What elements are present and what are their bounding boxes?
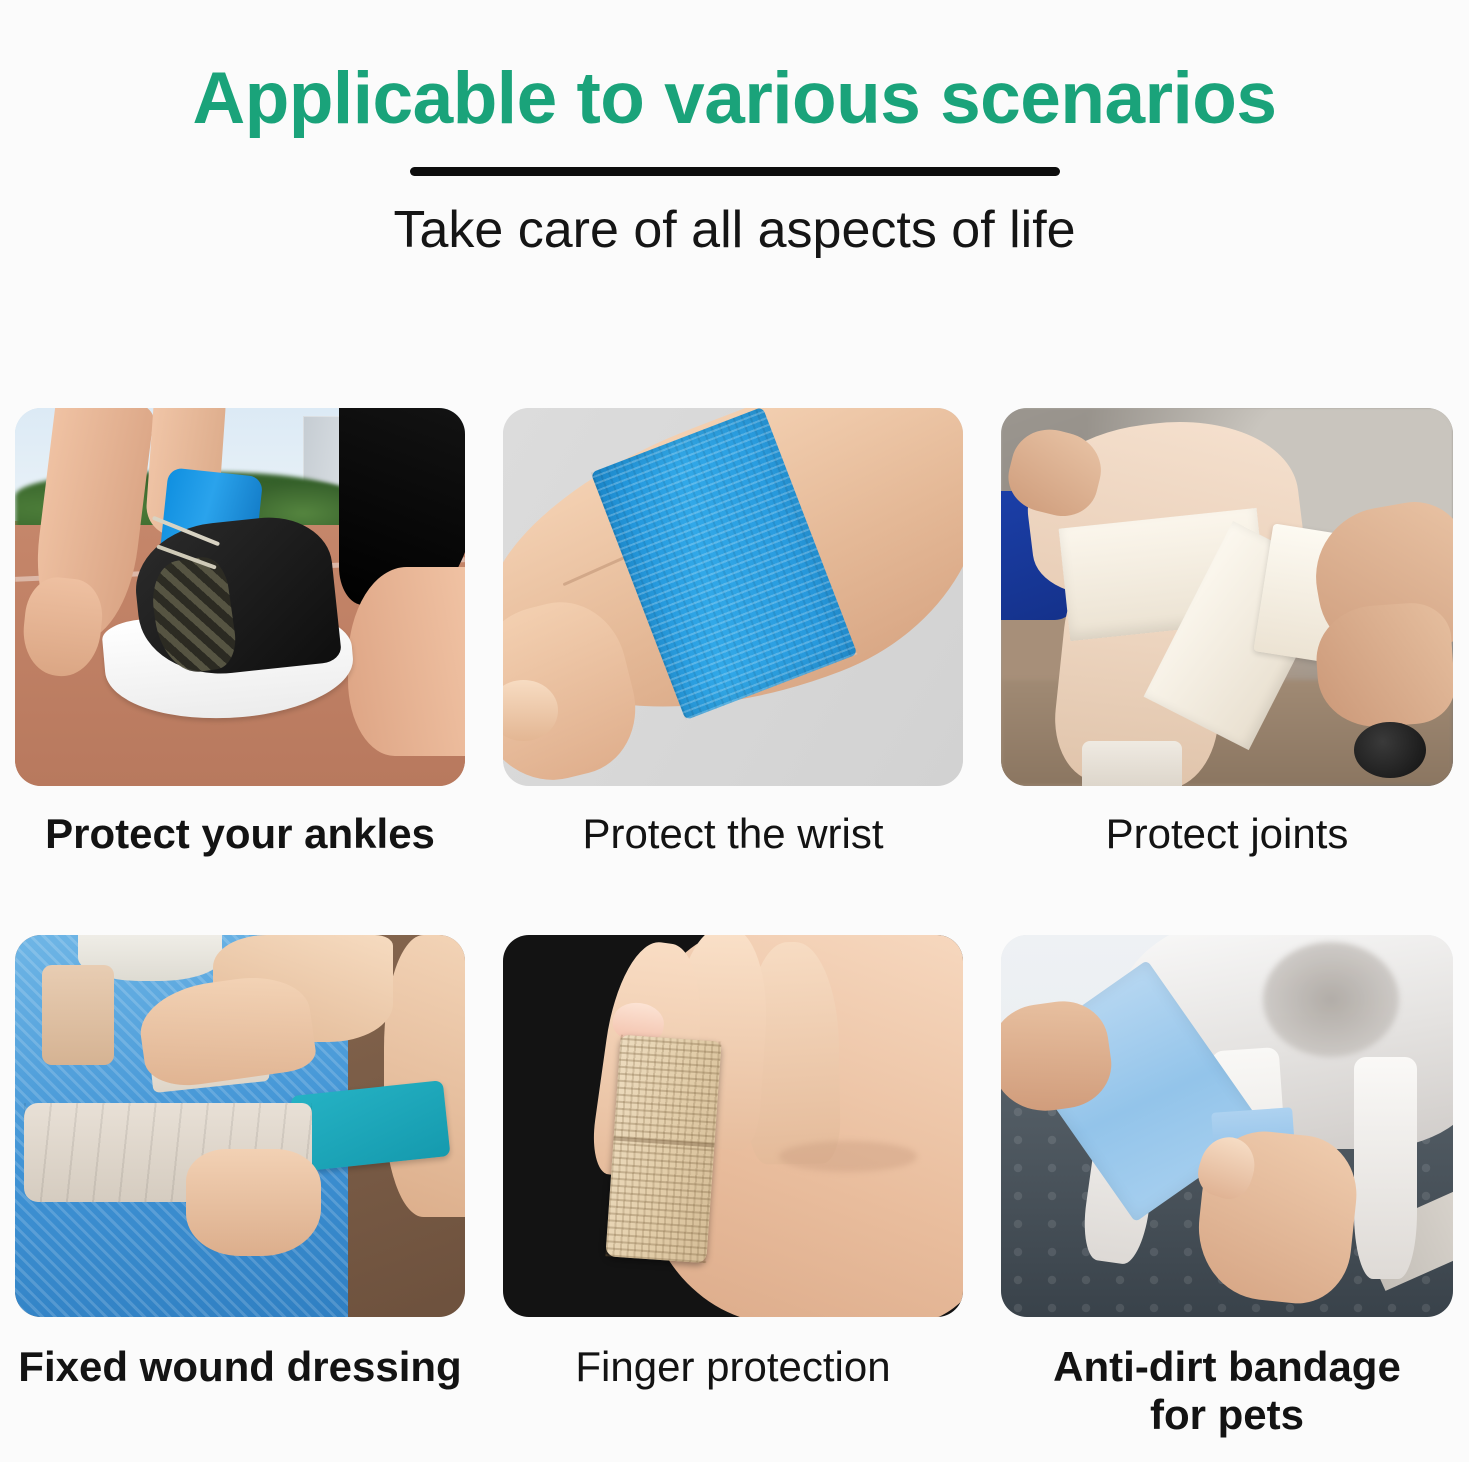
scenario-image-fixed-wound-dressing — [15, 935, 465, 1317]
wrist-scene — [503, 408, 963, 786]
scenario-card-protect-ankles[interactable]: Protect your ankles — [15, 408, 465, 859]
scenario-caption-protect-wrist: Protect the wrist — [582, 810, 883, 859]
knee-scene — [1001, 408, 1453, 786]
finger-scene — [503, 935, 963, 1317]
scenario-caption-anti-dirt-bandage-pets: Anti-dirt bandage for pets — [1053, 1343, 1401, 1440]
scenario-card-protect-wrist[interactable]: Protect the wrist — [503, 408, 963, 859]
scenario-image-finger-protection — [503, 935, 963, 1317]
page-title: Applicable to various scenarios — [0, 62, 1469, 135]
page-subtitle: Take care of all aspects of life — [0, 202, 1469, 259]
pet-bandage-scene — [1001, 935, 1453, 1317]
title-divider-wrap — [0, 167, 1469, 176]
scenario-image-protect-joints — [1001, 408, 1453, 786]
infographic-page: Applicable to various scenarios Take car… — [0, 0, 1469, 1462]
scenario-caption-finger-protection: Finger protection — [575, 1343, 890, 1392]
wound-dressing-scene — [15, 935, 465, 1317]
grid-row-spacer — [503, 859, 963, 935]
scenario-card-anti-dirt-bandage-pets[interactable]: Anti-dirt bandage for pets — [1001, 935, 1453, 1440]
ankle-scene — [15, 408, 465, 786]
title-divider — [410, 167, 1060, 176]
scenario-caption-protect-joints: Protect joints — [1106, 810, 1349, 859]
scenario-grid: Protect your ankles Protect the wrist — [15, 408, 1455, 1440]
beige-finger-bandage — [606, 1035, 722, 1263]
grid-row-spacer — [15, 859, 465, 935]
scenario-card-protect-joints[interactable]: Protect joints — [1001, 408, 1453, 859]
grid-row-spacer — [1001, 859, 1453, 935]
scenario-caption-protect-ankles: Protect your ankles — [45, 810, 435, 859]
scenario-caption-fixed-wound-dressing: Fixed wound dressing — [18, 1343, 461, 1392]
scenario-card-finger-protection[interactable]: Finger protection — [503, 935, 963, 1440]
scenario-image-anti-dirt-bandage-pets — [1001, 935, 1453, 1317]
scenario-image-protect-wrist — [503, 408, 963, 786]
scenario-image-protect-ankles — [15, 408, 465, 786]
scenario-card-fixed-wound-dressing[interactable]: Fixed wound dressing — [15, 935, 465, 1440]
header: Applicable to various scenarios Take car… — [0, 0, 1469, 259]
